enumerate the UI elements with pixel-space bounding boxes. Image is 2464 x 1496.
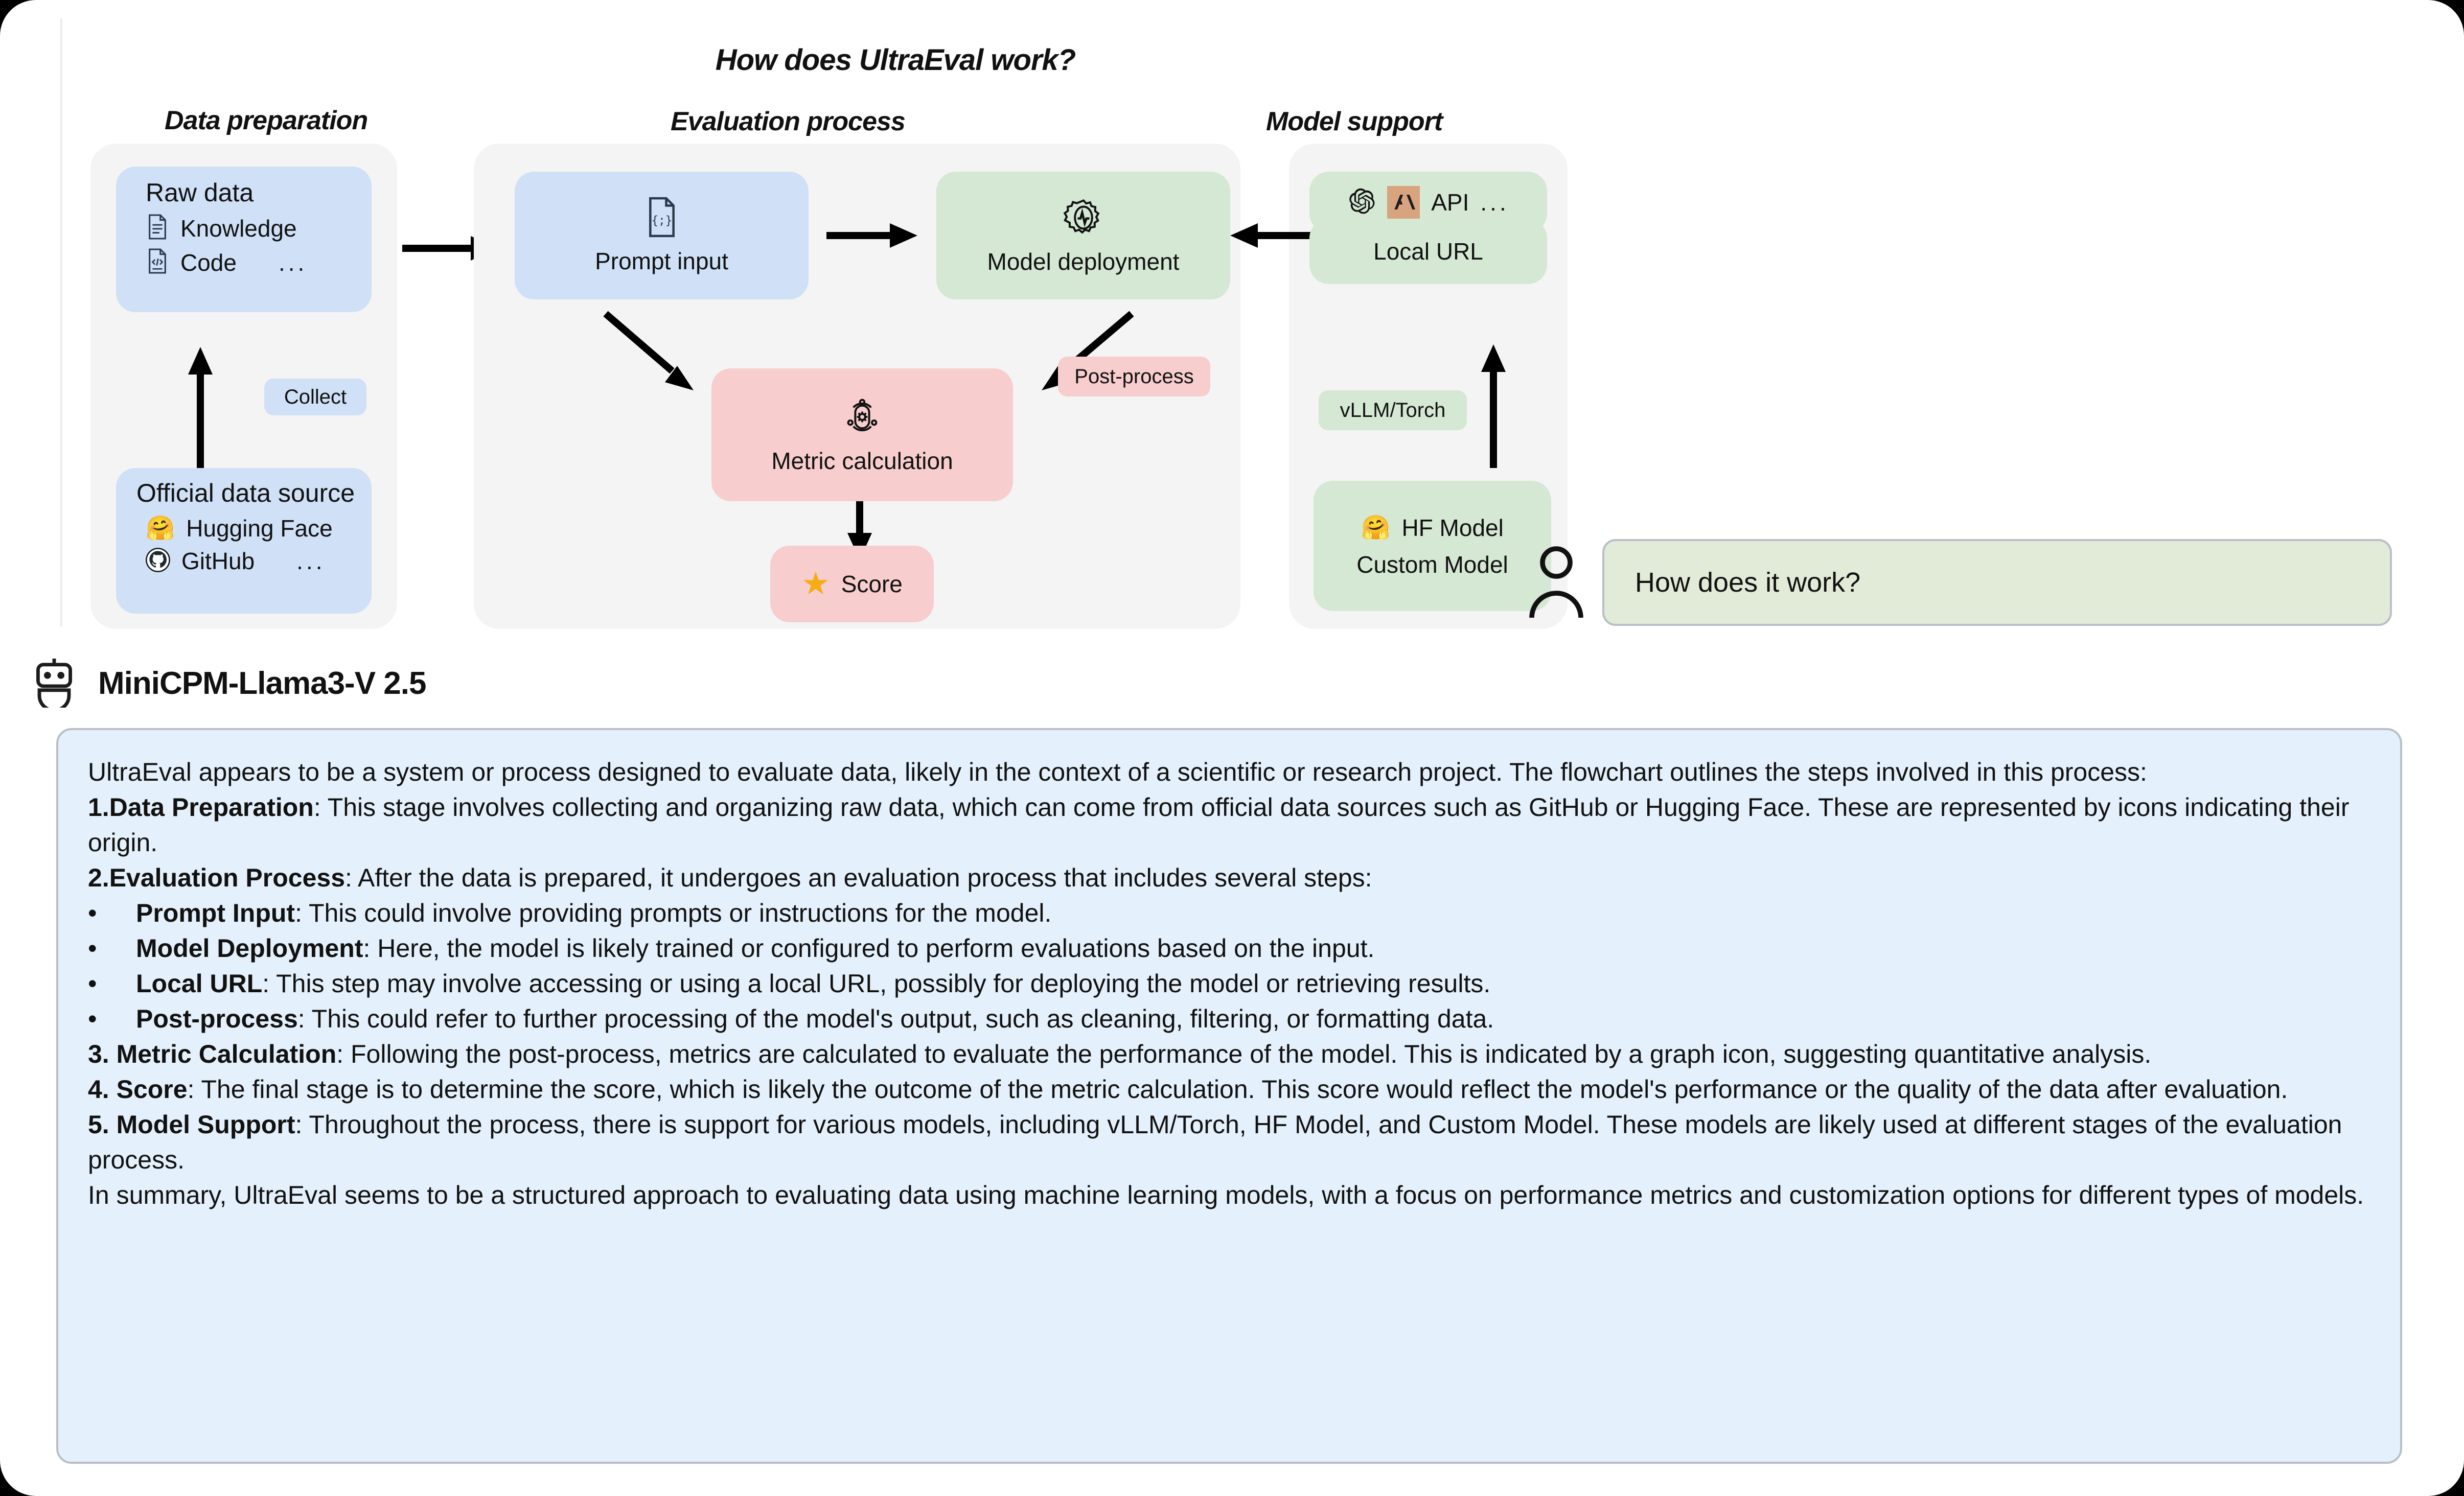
answer-rest: : Throughout the process, there is suppo… xyxy=(88,1110,2342,1174)
arrow-collect-up xyxy=(185,343,216,471)
node-metric-calculation[interactable]: Metric calculation xyxy=(711,368,1013,501)
hugging-face-icon: 🤗 xyxy=(1361,513,1390,542)
answer-bold: 1.Data Preparation xyxy=(88,793,314,822)
answer-rest: : The final stage is to determine the sc… xyxy=(188,1075,2288,1104)
tag-collect: Collect xyxy=(264,379,366,415)
official-source-ellipsis: ... xyxy=(296,547,325,575)
answer-bold: 2.Evaluation Process xyxy=(88,863,345,892)
node-official-data-source[interactable]: Official data source 🤗 Hugging Face GitH… xyxy=(116,468,372,614)
diagram-title: How does UltraEval work? xyxy=(665,43,1125,77)
api-label: API xyxy=(1431,189,1469,216)
openai-icon xyxy=(1347,187,1376,218)
answer-paragraph: UltraEval appears to be a system or proc… xyxy=(88,755,2370,790)
arrow-prompt-to-deployment xyxy=(826,220,918,251)
answer-bold: 4. Score xyxy=(88,1075,188,1104)
star-icon: ★ xyxy=(801,568,830,600)
user-icon xyxy=(1526,544,1587,621)
raw-data-item-code: Code xyxy=(180,249,237,276)
answer-bullet: •Post-process: This could refer to furth… xyxy=(88,1001,2370,1037)
local-url-label: Local URL xyxy=(1373,238,1483,265)
arrow-modelsupport-to-deployment xyxy=(1230,220,1322,251)
answer-paragraph: 3. Metric Calculation: Following the pos… xyxy=(88,1037,2370,1072)
answer-bold: Model Deployment xyxy=(136,934,363,963)
assistant-answer-bubble: UltraEval appears to be a system or proc… xyxy=(56,728,2402,1464)
anthropic-icon xyxy=(1387,186,1420,219)
raw-data-item-knowledge: Knowledge xyxy=(180,215,297,242)
arrow-prompt-to-metric xyxy=(602,310,704,402)
robot-icon xyxy=(31,657,78,710)
page-root: How does UltraEval work? Data preparatio… xyxy=(0,0,2464,1496)
node-models[interactable]: 🤗 HF Model Custom Model xyxy=(1314,481,1551,611)
section-heading-model-support: Model support xyxy=(1266,106,1442,137)
answer-rest: : After the data is prepared, it undergo… xyxy=(345,863,1372,892)
raw-data-title: Raw data xyxy=(146,178,254,207)
node-prompt-input[interactable]: {;} Prompt input xyxy=(515,172,809,299)
api-ellipsis: ... xyxy=(1480,189,1509,216)
answer-bullet: •Model Deployment: Here, the model is li… xyxy=(88,931,2370,966)
answer-bullet: •Local URL: This step may involve access… xyxy=(88,966,2370,1001)
assistant-name: MiniCPM-Llama3-V 2.5 xyxy=(98,665,426,702)
answer-paragraph: 2.Evaluation Process: After the data is … xyxy=(88,860,2370,896)
answer-bold: Post-process xyxy=(136,1004,298,1033)
answer-rest: : This could involve providing prompts o… xyxy=(295,899,1051,927)
node-raw-data[interactable]: Raw data Knowledge Code ... xyxy=(116,167,372,312)
tag-vllm-torch: vLLM/Torch xyxy=(1319,390,1467,430)
node-model-deployment[interactable]: Model deployment xyxy=(936,172,1230,299)
svg-text:{;}: {;} xyxy=(651,214,672,227)
metric-gear-orbit-icon xyxy=(842,395,883,441)
code-file-icon xyxy=(146,248,169,277)
node-local-url[interactable]: Local URL xyxy=(1309,219,1547,284)
node-score[interactable]: ★ Score xyxy=(770,546,934,622)
answer-rest: : Here, the model is likely trained or c… xyxy=(363,934,1374,963)
post-process-label: Post-process xyxy=(1074,365,1193,388)
answer-bullet: •Prompt Input: This could involve provid… xyxy=(88,896,2370,931)
user-message-text: How does it work? xyxy=(1635,567,1860,598)
answer-paragraph: 4. Score: The final stage is to determin… xyxy=(88,1072,2370,1107)
raw-data-ellipsis: ... xyxy=(279,249,307,276)
document-icon xyxy=(146,214,169,243)
answer-paragraph: 5. Model Support: Throughout the process… xyxy=(88,1107,2370,1178)
hf-model-label: HF Model xyxy=(1401,514,1503,542)
answer-rest: : This stage involves collecting and org… xyxy=(88,793,2350,857)
user-message-bubble: How does it work? xyxy=(1602,539,2392,626)
gear-pulse-icon xyxy=(1062,196,1105,242)
official-source-title: Official data source xyxy=(136,478,355,508)
answer-rest: : This step may involve accessing or usi… xyxy=(262,969,1490,998)
official-source-item-hugging-face: Hugging Face xyxy=(186,515,332,542)
hugging-face-icon: 🤗 xyxy=(146,514,175,542)
vllm-torch-label: vLLM/Torch xyxy=(1340,399,1446,422)
assistant-header: MiniCPM-Llama3-V 2.5 xyxy=(31,657,426,710)
answer-bold: 5. Model Support xyxy=(88,1110,295,1139)
answer-paragraph: 1.Data Preparation: This stage involves … xyxy=(88,790,2370,860)
bullet-dot: • xyxy=(88,966,109,1001)
bullet-dot: • xyxy=(88,1001,109,1037)
arrow-models-up xyxy=(1478,340,1509,468)
answer-paragraph: In summary, UltraEval seems to be a stru… xyxy=(88,1178,2370,1213)
bullet-dot: • xyxy=(88,896,109,931)
diagram-card: How does UltraEval work? Data preparatio… xyxy=(60,18,2401,626)
score-label: Score xyxy=(841,570,903,598)
section-heading-evaluation-process: Evaluation process xyxy=(671,106,905,137)
answer-bold: Local URL xyxy=(136,969,262,998)
official-source-item-github: GitHub xyxy=(181,547,255,575)
metric-calculation-label: Metric calculation xyxy=(771,447,953,475)
answer-bold: 3. Metric Calculation xyxy=(88,1040,336,1068)
json-file-icon: {;} xyxy=(644,197,679,240)
collect-label: Collect xyxy=(284,386,347,409)
tag-post-process: Post-process xyxy=(1058,357,1210,396)
answer-rest: : This could refer to further processing… xyxy=(298,1004,1494,1033)
prompt-input-label: Prompt input xyxy=(595,247,728,275)
answer-bold: Prompt Input xyxy=(136,899,295,927)
model-deployment-label: Model deployment xyxy=(987,248,1180,275)
custom-model-label: Custom Model xyxy=(1356,551,1508,578)
section-heading-data-preparation: Data preparation xyxy=(165,105,367,136)
bullet-dot: • xyxy=(88,931,109,966)
github-icon xyxy=(146,548,170,575)
answer-rest: : Following the post-process, metrics ar… xyxy=(336,1040,2151,1068)
